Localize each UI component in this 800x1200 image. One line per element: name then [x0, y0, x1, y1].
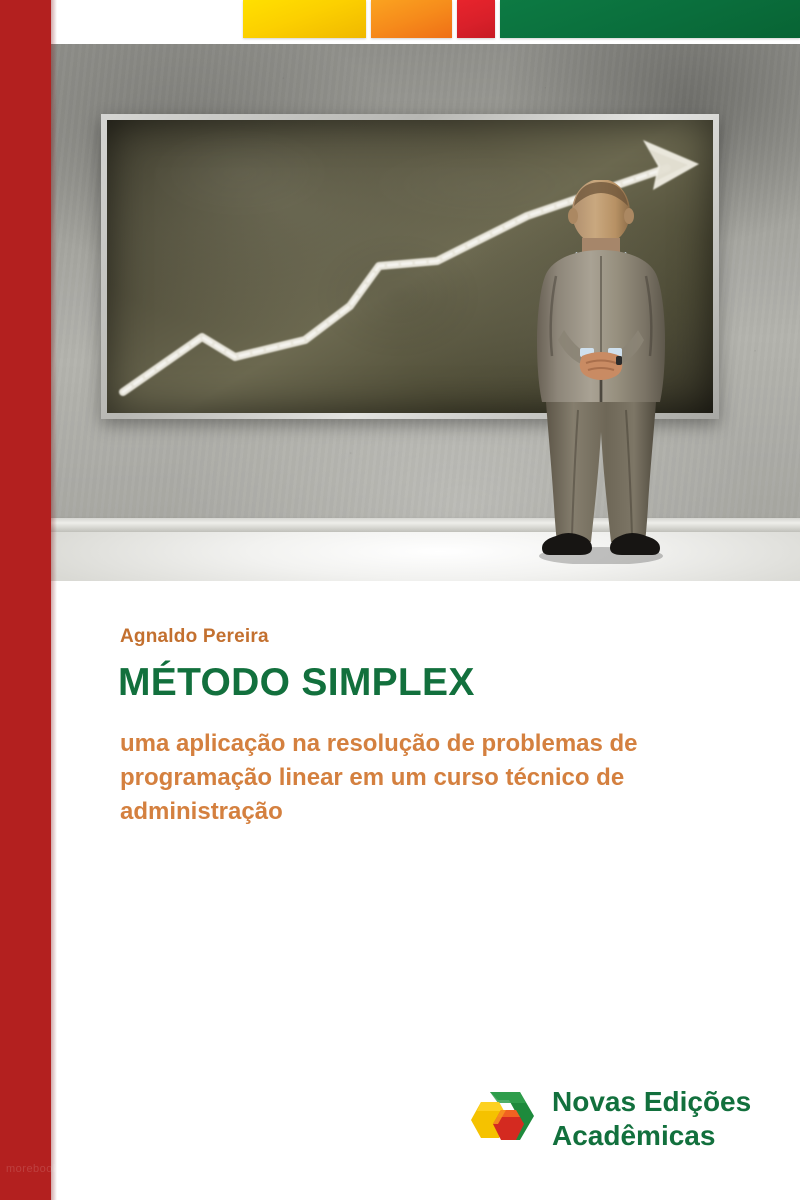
red-bar — [457, 0, 495, 38]
hexagon-logo-icon — [468, 1086, 536, 1152]
spine-watermark: morebooks — [6, 1163, 65, 1175]
publisher-block: Novas Edições Acadêmicas — [468, 1085, 751, 1152]
top-color-bars — [0, 0, 800, 40]
book-cover: morebooks Agnaldo Pereira MÉTODO SIMPLEX… — [0, 0, 800, 1200]
green-bar — [500, 0, 800, 38]
book-title: MÉTODO SIMPLEX — [118, 662, 475, 705]
spine-shadow — [51, 0, 57, 1200]
businessman-figure — [506, 180, 696, 564]
author-name: Agnaldo Pereira — [120, 626, 269, 648]
book-subtitle: uma aplicação na resolução de problemas … — [120, 727, 760, 829]
orange-bar — [371, 0, 452, 38]
cover-photo — [51, 44, 800, 581]
publisher-name: Novas Edições Acadêmicas — [552, 1085, 751, 1152]
red-spine — [0, 0, 51, 1200]
yellow-bar — [243, 0, 366, 38]
